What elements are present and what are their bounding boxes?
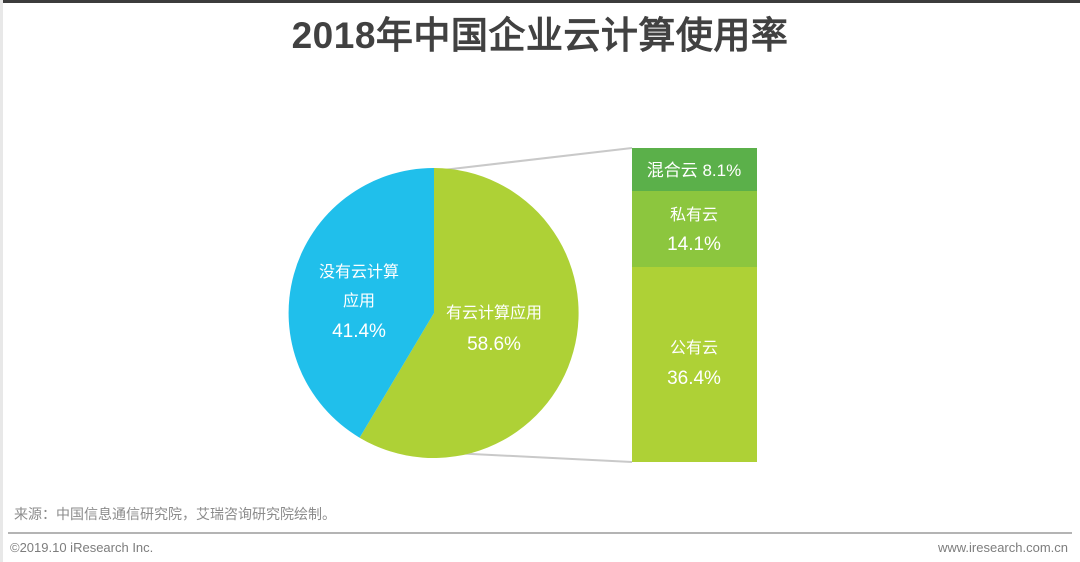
pie-label-blue-name-line1: 没有云计算 — [319, 262, 399, 281]
pie-and-bar-svg: 没有云计算 应用 41.4% 有云计算应用 58.6% 混合云 8.1% 私有云… — [0, 110, 1080, 490]
connector-line-top — [443, 148, 632, 170]
bar-label-public-cloud-name: 公有云 — [670, 339, 718, 357]
bar-label-private-cloud-value: 14.1% — [667, 234, 721, 255]
pie-chart: 没有云计算 应用 41.4% 有云计算应用 58.6% — [289, 168, 579, 458]
page-title: 2018年中国企业云计算使用率 — [0, 12, 1080, 60]
footer-copyright: ©2019.10 iResearch Inc. — [10, 540, 153, 555]
footer-divider — [8, 532, 1072, 534]
bar-segment-public-cloud[interactable] — [632, 267, 757, 462]
bar-label-public-cloud-value: 36.4% — [667, 368, 721, 389]
bar-label-private-cloud-name: 私有云 — [670, 206, 718, 224]
bar-label-hybrid-cloud: 混合云 8.1% — [647, 161, 741, 180]
breakout-stacked-bar: 混合云 8.1% 私有云 14.1% 公有云 36.4% — [632, 148, 757, 462]
pie-label-blue-value: 41.4% — [332, 321, 386, 342]
source-note: 来源：中国信息通信研究院，艾瑞咨询研究院绘制。 — [14, 504, 336, 524]
top-edge-strip — [0, 0, 1080, 3]
bar-segment-private-cloud[interactable] — [632, 191, 757, 267]
pie-label-blue-name-line2: 应用 — [343, 291, 375, 310]
chart-figure: 没有云计算 应用 41.4% 有云计算应用 58.6% 混合云 8.1% 私有云… — [0, 110, 1080, 490]
chart-page: 2018年中国企业云计算使用率 没有云计算 应用 41.4% 有云计算应用 58… — [0, 0, 1080, 562]
pie-label-green-value: 58.6% — [467, 334, 521, 355]
pie-label-green-name: 有云计算应用 — [446, 303, 542, 322]
footer-website[interactable]: www.iresearch.com.cn — [938, 540, 1068, 555]
